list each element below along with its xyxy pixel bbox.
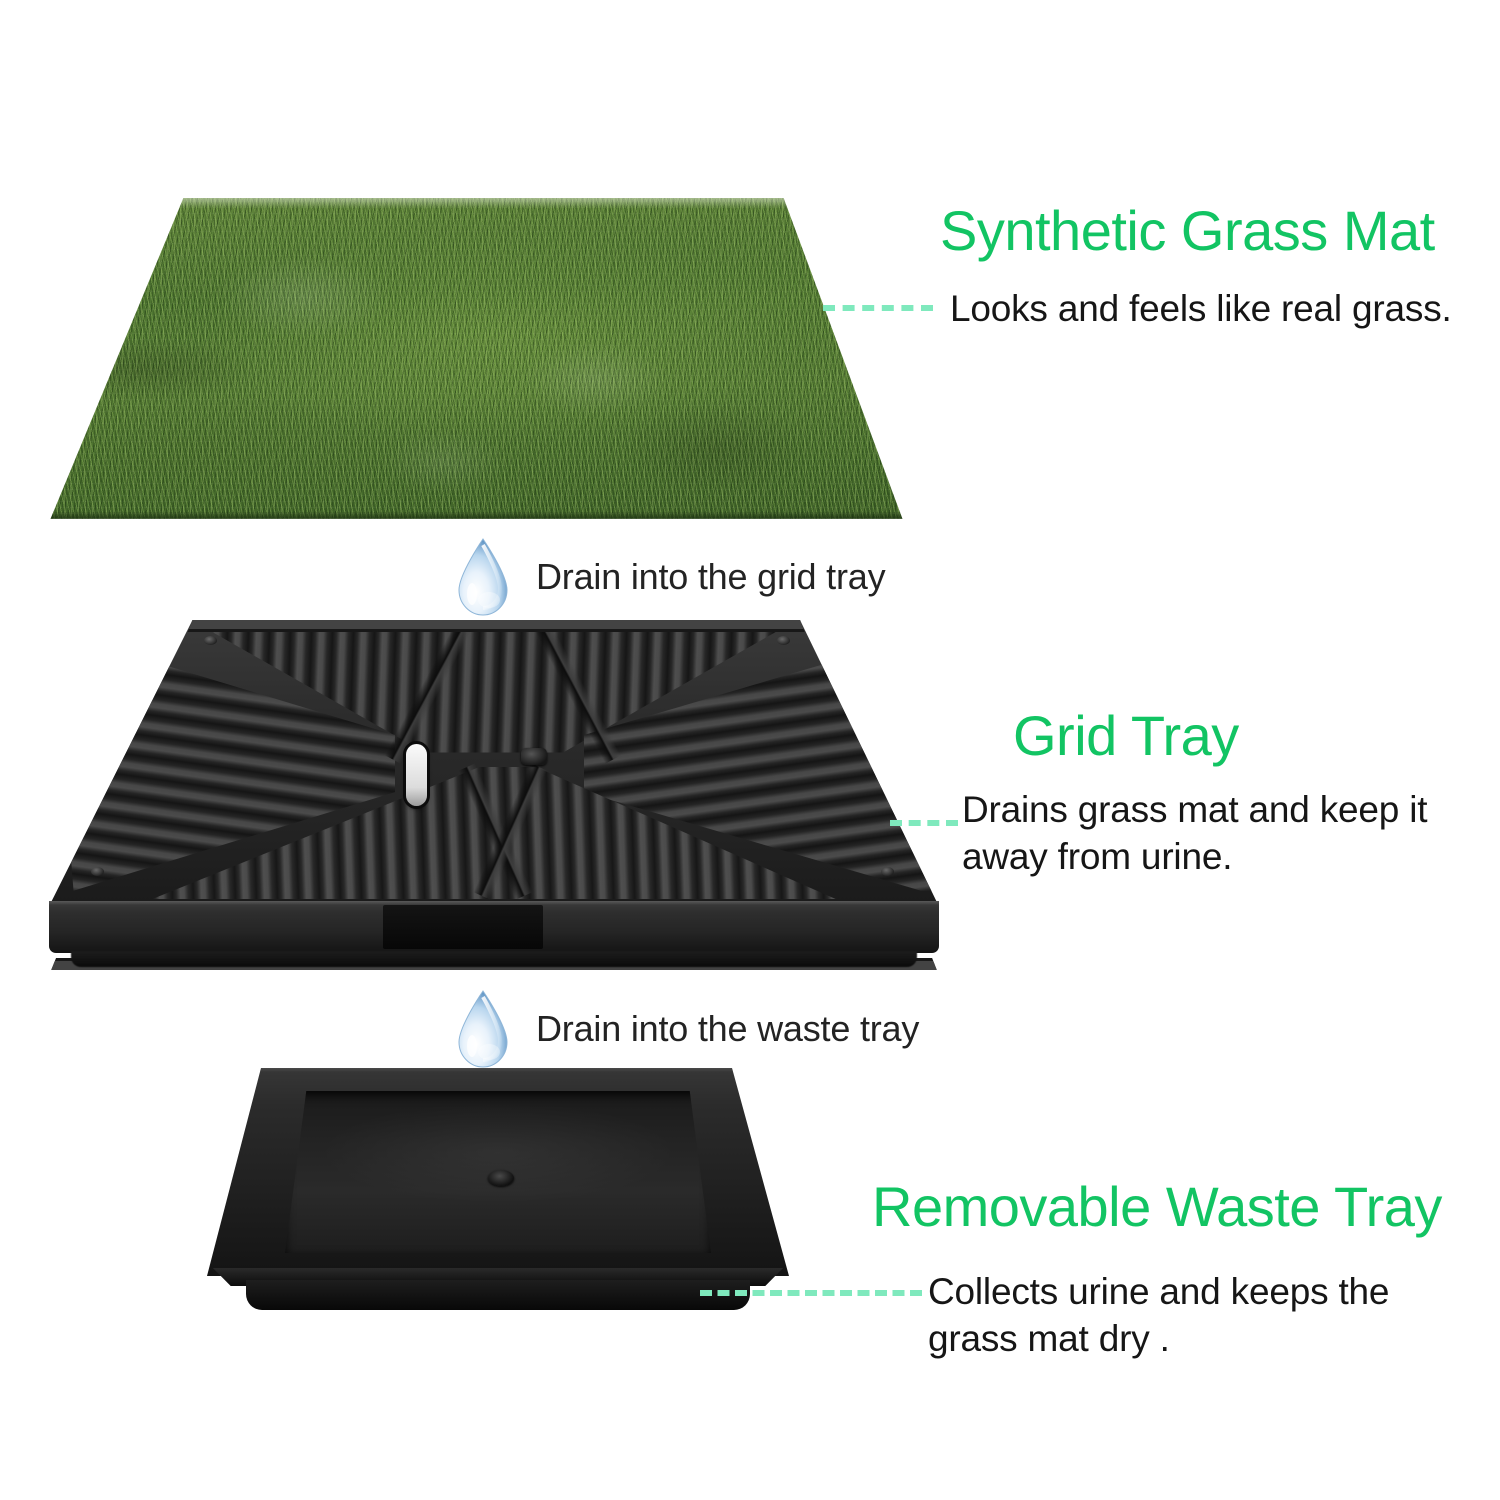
product-infographic: Synthetic Grass Mat Looks and feels like… — [0, 0, 1500, 1500]
grass-top-highlight — [40, 198, 920, 208]
grid-screw-bottom-left — [91, 867, 104, 876]
waste-tray-icon — [198, 1068, 798, 1318]
grid-tray-front-notch — [383, 905, 543, 949]
grid-centre-stud — [521, 748, 547, 765]
grid-tray-base-shadow — [71, 951, 917, 967]
waste-tray-underside — [246, 1280, 750, 1310]
grass-shading-layer — [40, 198, 920, 528]
heading-grid-tray: Grid Tray — [1013, 707, 1239, 766]
grass-mat-icon — [40, 198, 920, 528]
flow-label-to-grid: Drain into the grid tray — [536, 556, 885, 598]
description-waste-tray: Collects urine and keeps the grass mat d… — [928, 1268, 1428, 1363]
leader-line-grass-mat — [823, 305, 933, 311]
grid-screw-top-left — [204, 636, 217, 645]
heading-waste-tray: Removable Waste Tray — [872, 1178, 1442, 1237]
waste-tray-rim-highlight — [261, 1068, 732, 1072]
leader-line-waste-tray — [700, 1290, 922, 1296]
water-drop-icon-waste — [455, 990, 511, 1068]
water-drop-icon-grid — [455, 538, 511, 616]
waste-tray-basin — [285, 1091, 711, 1253]
description-grass-mat: Looks and feels like real grass. — [950, 285, 1470, 332]
grid-tray-icon — [44, 620, 944, 970]
grid-screw-top-right — [777, 636, 790, 645]
flow-label-to-waste: Drain into the waste tray — [536, 1008, 919, 1050]
description-grid-tray: Drains grass mat and keep it away from u… — [962, 786, 1452, 881]
grid-screw-bottom-right — [881, 867, 894, 876]
grid-tray-front-skirt — [49, 901, 938, 953]
grass-front-edge — [40, 512, 920, 528]
waste-tray-body — [198, 1068, 798, 1276]
grid-drain-slot — [406, 744, 427, 806]
grid-tray-deck — [44, 620, 944, 902]
leader-line-grid-tray — [890, 820, 958, 826]
heading-grass-mat: Synthetic Grass Mat — [940, 202, 1435, 261]
